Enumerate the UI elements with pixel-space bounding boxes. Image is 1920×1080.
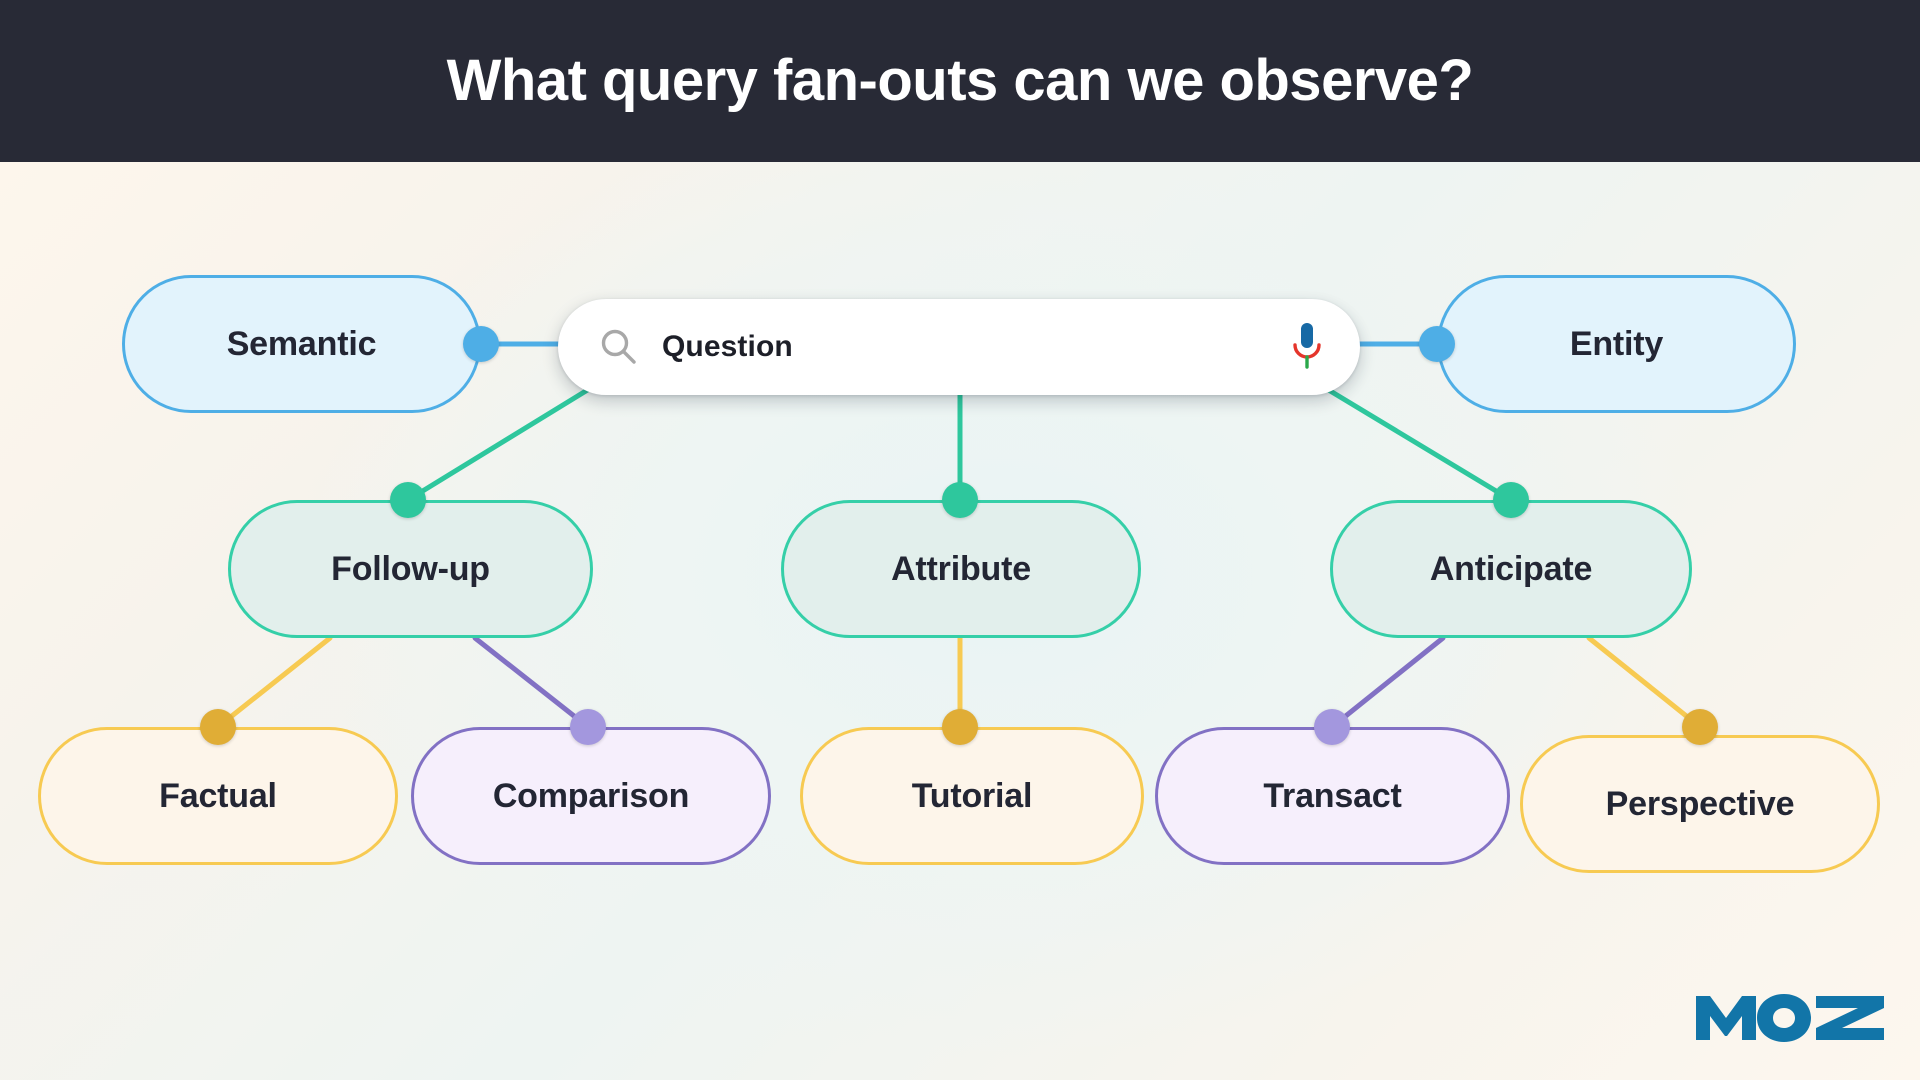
node-comparison-label: Comparison bbox=[493, 779, 689, 813]
node-semantic[interactable]: Semantic bbox=[122, 275, 481, 413]
connector-dot-attribute bbox=[942, 482, 978, 518]
connector-dot-tutorial bbox=[942, 709, 978, 745]
node-factual[interactable]: Factual bbox=[38, 727, 398, 865]
node-attribute-label: Attribute bbox=[891, 552, 1031, 586]
node-transact[interactable]: Transact bbox=[1155, 727, 1510, 865]
page-title: What query fan-outs can we observe? bbox=[447, 52, 1474, 110]
node-tutorial-label: Tutorial bbox=[912, 779, 1033, 813]
connector-dot-anticipate bbox=[1493, 482, 1529, 518]
search-bar[interactable]: Question bbox=[558, 299, 1360, 395]
microphone-icon[interactable] bbox=[1288, 320, 1326, 374]
connector-dot-comparison bbox=[570, 709, 606, 745]
node-attribute[interactable]: Attribute bbox=[781, 500, 1141, 638]
node-entity[interactable]: Entity bbox=[1437, 275, 1796, 413]
moz-logo bbox=[1696, 990, 1886, 1046]
node-transact-label: Transact bbox=[1263, 779, 1401, 813]
search-input[interactable]: Question bbox=[662, 330, 1288, 364]
node-tutorial[interactable]: Tutorial bbox=[800, 727, 1144, 865]
header-bar: What query fan-outs can we observe? bbox=[0, 0, 1920, 162]
node-factual-label: Factual bbox=[159, 779, 277, 813]
connector-dot-perspective bbox=[1682, 709, 1718, 745]
node-anticipate-label: Anticipate bbox=[1430, 552, 1592, 586]
node-anticipate[interactable]: Anticipate bbox=[1330, 500, 1692, 638]
connector-dot-entity bbox=[1419, 326, 1455, 362]
connector-dot-transact bbox=[1314, 709, 1350, 745]
node-followup[interactable]: Follow-up bbox=[228, 500, 593, 638]
node-perspective-label: Perspective bbox=[1606, 787, 1795, 821]
search-icon bbox=[598, 326, 640, 368]
node-followup-label: Follow-up bbox=[331, 552, 490, 586]
node-semantic-label: Semantic bbox=[227, 327, 377, 361]
connector-dot-followup bbox=[390, 482, 426, 518]
node-comparison[interactable]: Comparison bbox=[411, 727, 771, 865]
diagram-canvas: What query fan-outs can we observe? bbox=[0, 0, 1920, 1080]
node-perspective[interactable]: Perspective bbox=[1520, 735, 1880, 873]
node-entity-label: Entity bbox=[1570, 327, 1663, 361]
connector-dot-semantic bbox=[463, 326, 499, 362]
connector-dot-factual bbox=[200, 709, 236, 745]
